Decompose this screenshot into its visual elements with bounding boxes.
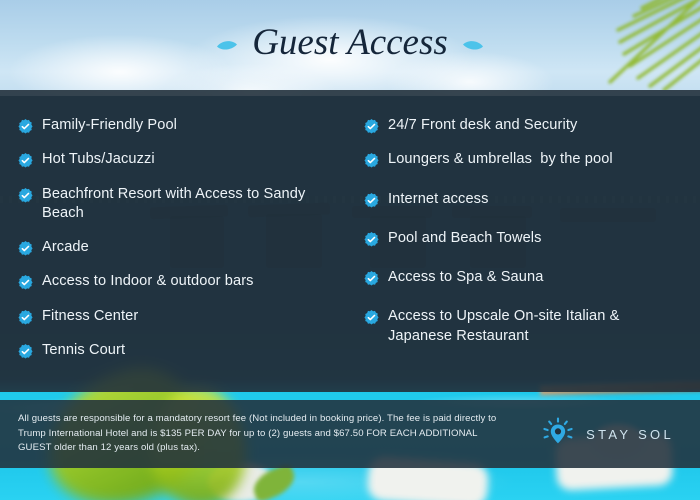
list-item: Beachfront Resort with Access to Sandy B… [18,185,340,224]
check-badge-icon [364,119,379,134]
right-leaf-icon [462,39,484,52]
check-badge-icon [364,271,379,286]
list-item-label: Beachfront Resort with Access to Sandy B… [42,185,314,224]
list-item-label: Family-Friendly Pool [42,116,177,135]
list-item-label: Pool and Beach Towels [388,229,542,248]
list-item-label: 24/7 Front desk and Security [388,116,577,135]
check-badge-icon [18,310,33,325]
list-item-label: Hot Tubs/Jacuzzi [42,150,155,169]
page-title: Guest Access [252,24,448,67]
list-item-label: Fitness Center [42,307,138,326]
check-badge-icon [364,153,379,168]
check-badge-icon [18,344,33,359]
list-item-label: Access to Spa & Sauna [388,268,543,287]
list-item: Access to Spa & Sauna [364,268,686,287]
sun-location-pin-icon [541,417,575,451]
list-item: Access to Upscale On-site Italian & Japa… [364,307,686,346]
footer-bar: All guests are responsible for a mandato… [0,400,700,468]
brand-logo: STAY SOL [541,417,682,451]
list-item: 24/7 Front desk and Security [364,116,686,135]
left-leaf-icon [216,39,238,52]
list-item: Arcade [18,238,340,257]
check-badge-icon [364,193,379,208]
list-item-label: Tennis Court [42,341,125,360]
list-item: Fitness Center [18,307,340,326]
check-badge-icon [18,153,33,168]
check-badge-icon [364,232,379,247]
check-badge-icon [364,310,379,325]
list-item: Internet access [364,190,686,209]
list-item-label: Access to Upscale On-site Italian & Japa… [388,307,670,346]
amenities-left-column: Family-Friendly Pool Hot Tubs/Jacuzzi Be… [0,90,354,392]
check-badge-icon [18,241,33,256]
list-item: Loungers & umbrellas by the pool [364,150,686,169]
resort-fee-disclaimer: All guests are responsible for a mandato… [18,412,508,457]
check-badge-icon [18,119,33,134]
list-item-label: Internet access [388,190,488,209]
list-item: Hot Tubs/Jacuzzi [18,150,340,169]
list-item: Access to Indoor & outdoor bars [18,272,340,291]
list-item: Tennis Court [18,341,340,360]
card-header: Guest Access [0,0,700,90]
list-item-label: Access to Indoor & outdoor bars [42,272,254,291]
amenities-panel: Family-Friendly Pool Hot Tubs/Jacuzzi Be… [0,90,700,392]
list-item: Pool and Beach Towels [364,229,686,248]
amenities-right-column: 24/7 Front desk and Security Loungers & … [354,90,700,392]
list-item: Family-Friendly Pool [18,116,340,135]
list-item-label: Loungers & umbrellas by the pool [388,150,613,169]
list-item-label: Arcade [42,238,89,257]
brand-name: STAY SOL [586,427,674,442]
check-badge-icon [18,188,33,203]
check-badge-icon [18,275,33,290]
guest-access-card: Guest Access Family-Friendly Pool Hot Tu… [0,0,700,500]
